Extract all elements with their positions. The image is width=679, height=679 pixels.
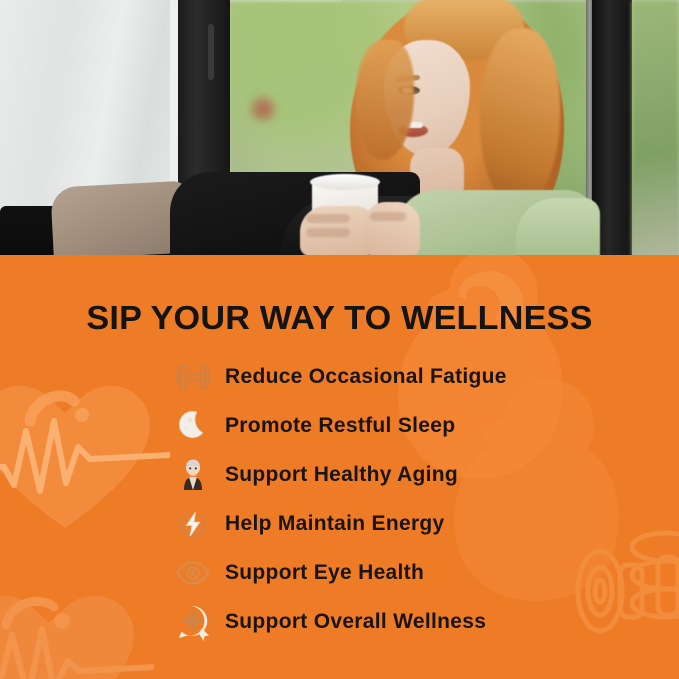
crescent-moon-icon [171, 404, 215, 448]
list-item-label: Help Maintain Energy [225, 512, 445, 536]
window-handle [208, 24, 214, 80]
finger [306, 214, 350, 223]
medical-cross-icon [171, 600, 215, 644]
dumbbell-icon [171, 355, 215, 399]
list-item-label: Support Healthy Aging [225, 463, 458, 487]
mug-rim [310, 174, 380, 190]
energy-bolt-icon [171, 502, 215, 546]
benefits-panel: SIP YOUR WAY TO WELLNESS [0, 255, 679, 679]
hand-right [364, 202, 420, 256]
list-item-label: Support Eye Health [225, 561, 424, 585]
list-item-label: Promote Restful Sleep [225, 414, 455, 438]
eye-icon [171, 551, 215, 595]
list-item[interactable]: Reduce Occasional Fatigue [0, 352, 679, 401]
finger [370, 212, 406, 221]
list-item[interactable]: Promote Restful Sleep [0, 401, 679, 450]
benefits-list: Reduce Occasional Fatigue Promote Restfu… [0, 352, 679, 646]
hero-photo [0, 0, 679, 256]
page-title: SIP YOUR WAY TO WELLNESS [0, 300, 679, 338]
garden-right [632, 0, 679, 256]
list-item[interactable]: Support Healthy Aging [0, 450, 679, 499]
list-item[interactable]: Support Overall Wellness [0, 597, 679, 646]
list-item-label: Reduce Occasional Fatigue [225, 365, 507, 389]
garden-flower-1 [250, 96, 276, 122]
elderly-person-icon [171, 453, 215, 497]
list-item[interactable]: Help Maintain Energy [0, 499, 679, 548]
list-item[interactable]: Support Eye Health [0, 548, 679, 597]
product-infographic: SIP YOUR WAY TO WELLNESS [0, 0, 679, 679]
finger [306, 228, 350, 237]
list-item-label: Support Overall Wellness [225, 610, 486, 634]
